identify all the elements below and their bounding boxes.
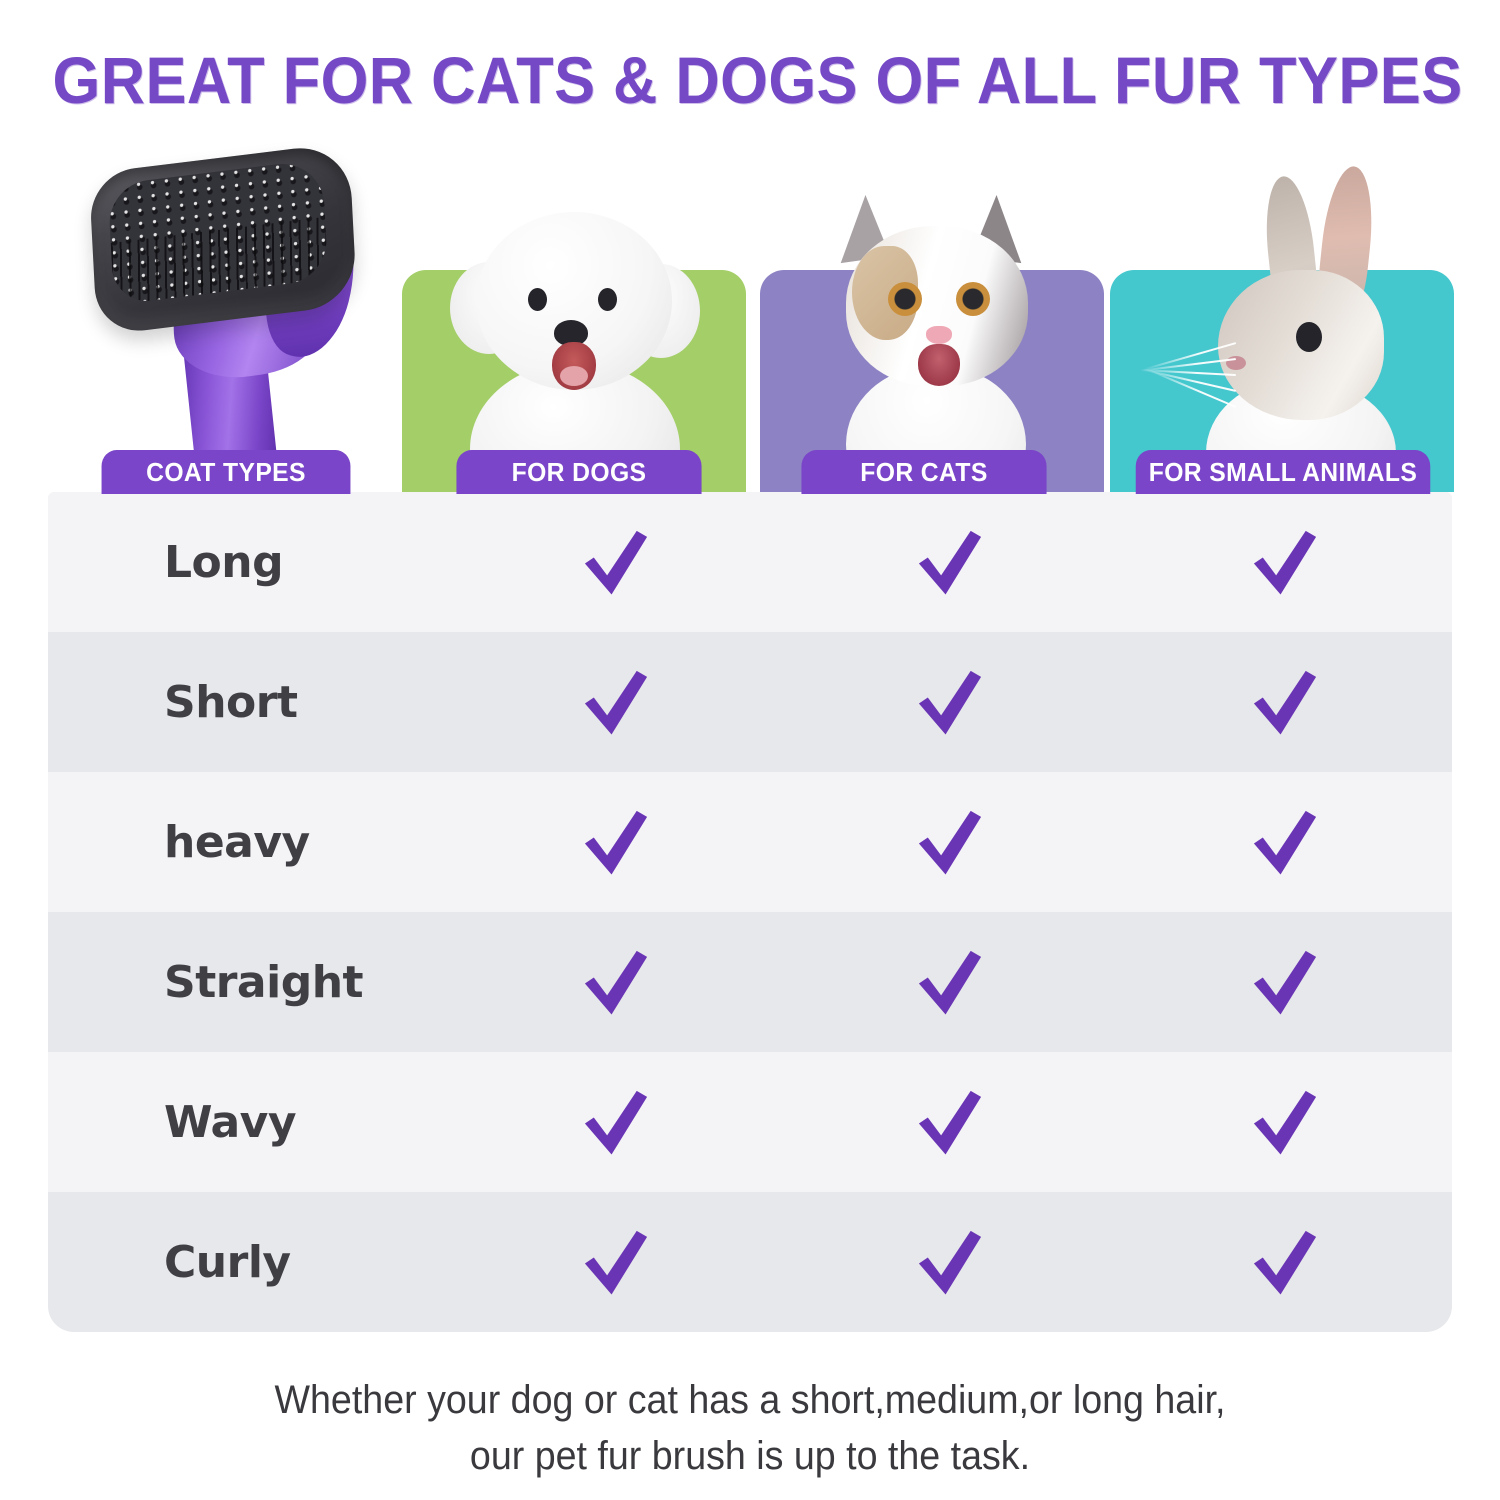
row-label-coat-type: Wavy	[48, 1097, 447, 1148]
checkmark-icon	[913, 945, 987, 1019]
cell-cats	[783, 945, 1117, 1019]
checkmark-icon	[579, 665, 653, 739]
cell-dogs	[449, 1225, 783, 1299]
cell-small-animals	[1118, 1225, 1452, 1299]
checkmark-icon	[1248, 665, 1322, 739]
cat-eye-left	[888, 282, 922, 316]
coat-types-table: Long Short heavy	[48, 492, 1452, 1332]
checkmark-icon	[913, 665, 987, 739]
table-row: heavy	[48, 772, 1452, 912]
checkmark-icon	[1248, 805, 1322, 879]
table-row: Long	[48, 492, 1452, 632]
table-row: Wavy	[48, 1052, 1452, 1192]
checkmark-icon	[913, 1085, 987, 1159]
cell-cats	[783, 525, 1117, 599]
row-label-coat-type: Short	[48, 677, 447, 728]
dog-eye-left	[528, 288, 547, 311]
checkmark-icon	[913, 525, 987, 599]
cell-cats	[783, 1085, 1117, 1159]
cell-cats	[783, 1225, 1117, 1299]
table-row: Curly	[48, 1192, 1452, 1332]
column-header-label: FOR DOGS	[512, 457, 647, 488]
checkmark-icon	[1248, 525, 1322, 599]
checkmark-icon	[579, 1085, 653, 1159]
cell-small-animals	[1118, 525, 1452, 599]
column-header-coat-types[interactable]: COAT TYPES	[102, 450, 351, 494]
caption-line-1: Whether your dog or cat has a short,medi…	[45, 1372, 1455, 1428]
checkmark-icon	[1248, 1225, 1322, 1299]
infographic-page: GREAT FOR CATS & DOGS OF ALL FUR TYPES	[0, 0, 1500, 1500]
row-label-coat-type: Long	[48, 537, 447, 588]
cell-dogs	[449, 665, 783, 739]
column-header-small-animals[interactable]: FOR SMALL ANIMALS	[1136, 450, 1431, 494]
cell-small-animals	[1118, 945, 1452, 1019]
cell-cats	[783, 805, 1117, 879]
cell-dogs	[449, 1085, 783, 1159]
cell-small-animals	[1118, 1085, 1452, 1159]
column-header-dogs[interactable]: FOR DOGS	[456, 450, 701, 494]
checkmark-icon	[579, 1225, 653, 1299]
cat-eye-right	[956, 282, 990, 316]
cell-dogs	[449, 945, 783, 1019]
checkmark-icon	[579, 525, 653, 599]
cell-dogs	[449, 805, 783, 879]
hero-strip: COAT TYPES FOR DOGS FOR CATS FOR SMALL A…	[0, 0, 1500, 500]
checkmark-icon	[913, 1225, 987, 1299]
slicker-brush-icon	[80, 148, 380, 468]
caption-line-2: our pet fur brush is up to the task.	[45, 1428, 1455, 1484]
dog-tongue	[560, 366, 588, 386]
row-label-coat-type: Straight	[48, 957, 447, 1008]
dog-eye-right	[598, 288, 617, 311]
checkmark-icon	[579, 945, 653, 1019]
checkmark-icon	[1248, 1085, 1322, 1159]
brush-rim	[89, 142, 358, 336]
cell-small-animals	[1118, 805, 1452, 879]
column-header-cats[interactable]: FOR CATS	[801, 450, 1046, 494]
table-row: Short	[48, 632, 1452, 772]
checkmark-icon	[1248, 945, 1322, 1019]
table-row: Straight	[48, 912, 1452, 1052]
column-header-label: FOR CATS	[860, 457, 987, 488]
column-header-label: COAT TYPES	[146, 457, 306, 488]
cat-mouth	[918, 344, 960, 386]
row-label-coat-type: Curly	[48, 1237, 447, 1288]
column-header-label: FOR SMALL ANIMALS	[1149, 457, 1418, 488]
cell-dogs	[449, 525, 783, 599]
rabbit-eye	[1296, 322, 1322, 352]
checkmark-icon	[913, 805, 987, 879]
rabbit-whiskers	[1140, 332, 1250, 432]
row-label-coat-type: heavy	[48, 817, 447, 868]
cat-nose	[926, 326, 952, 344]
cell-small-animals	[1118, 665, 1452, 739]
checkmark-icon	[579, 805, 653, 879]
cell-cats	[783, 665, 1117, 739]
footer-caption: Whether your dog or cat has a short,medi…	[45, 1372, 1455, 1484]
